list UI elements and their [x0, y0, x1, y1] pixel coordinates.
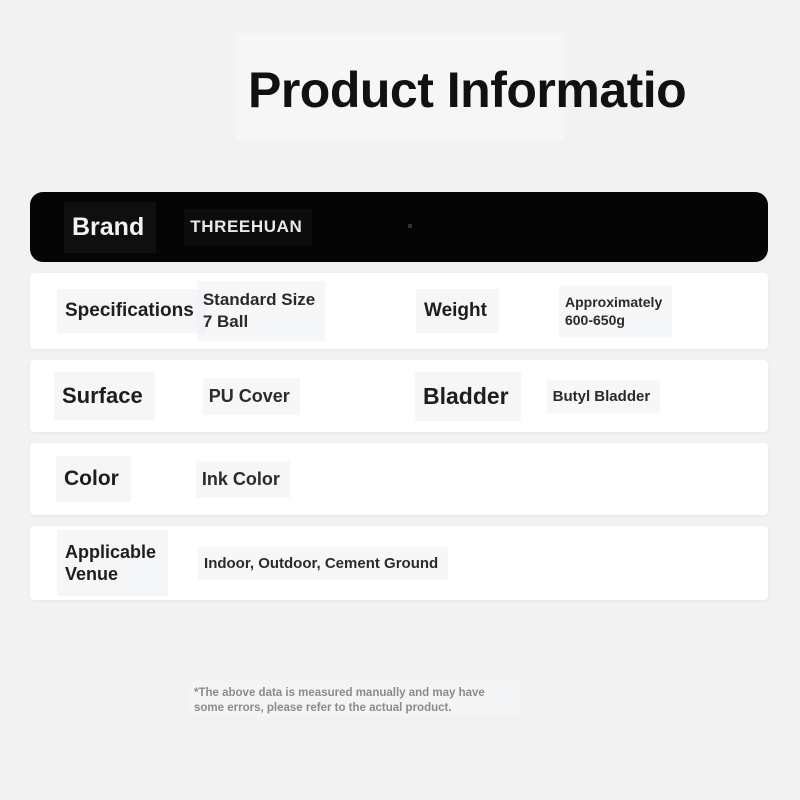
label-brand: Brand [72, 213, 144, 242]
product-specification-table: Brand THREEHUAN Specifications Standard … [30, 192, 768, 611]
cell-surface: Surface PU Cover [30, 383, 399, 409]
label-highlight-patch [57, 530, 168, 596]
cell-applicable-venue: Applicable Venue Indoor, Outdoor, Cement… [30, 541, 768, 585]
value-applicable-venue: Indoor, Outdoor, Cement Ground [204, 555, 438, 572]
cell-specifications: Specifications Standard Size 7 Ball [30, 289, 399, 333]
label-weight: Weight [424, 300, 487, 322]
table-row-surface-bladder: Surface PU Cover Bladder Butyl Bladder [30, 360, 768, 432]
label-surface: Surface [62, 383, 143, 409]
label-specifications: Specifications [65, 300, 194, 322]
value-bladder: Butyl Bladder [553, 388, 651, 405]
label-applicable-venue: Applicable Venue [65, 541, 156, 585]
table-row-applicable-venue: Applicable Venue Indoor, Outdoor, Cement… [30, 526, 768, 600]
value-surface: PU Cover [209, 386, 290, 407]
cell-color: Color Ink Color [30, 467, 768, 491]
cell-bladder: Bladder Butyl Bladder [399, 383, 768, 410]
dark-row-artifact-dot [408, 224, 412, 228]
value-brand: THREEHUAN [190, 217, 302, 237]
table-row-brand: Brand THREEHUAN [30, 192, 768, 262]
table-row-color: Color Ink Color [30, 443, 768, 515]
label-color: Color [64, 467, 119, 491]
cell-brand: Brand THREEHUAN [30, 213, 768, 242]
page-header: Product Informatio [0, 0, 800, 170]
page-title: Product Informatio [248, 58, 800, 122]
value-highlight-patch [559, 285, 672, 337]
label-bladder: Bladder [423, 383, 509, 410]
value-color: Ink Color [202, 469, 280, 490]
value-specifications: Standard Size 7 Ball [203, 289, 315, 333]
cell-weight: Weight Approximately 600-650g [399, 293, 768, 329]
table-row-specifications-weight: Specifications Standard Size 7 Ball Weig… [30, 273, 768, 349]
value-weight: Approximately 600-650g [565, 293, 662, 329]
footnote-disclaimer: *The above data is measured manually and… [194, 686, 485, 716]
